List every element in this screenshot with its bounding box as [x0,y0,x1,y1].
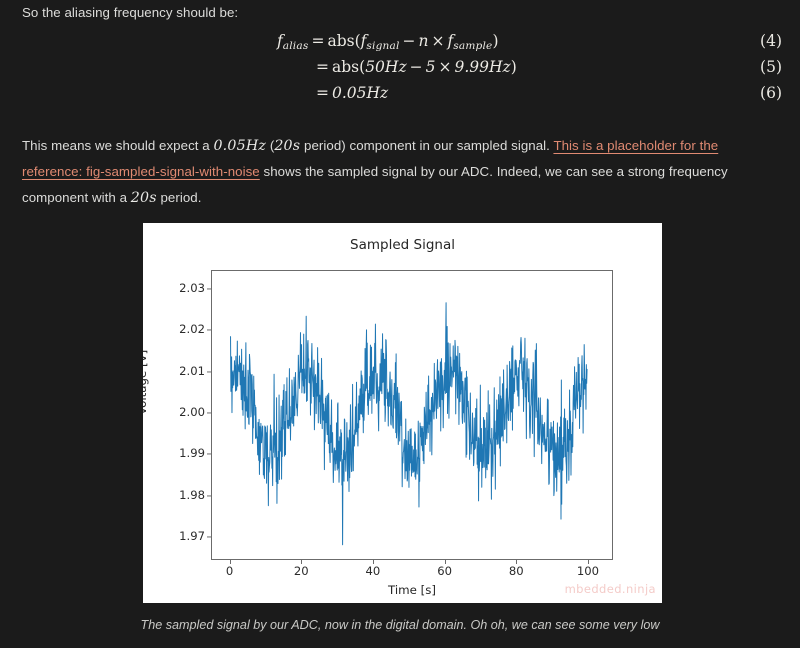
equation-number-4: (4) [760,34,782,50]
eq5-u2: Hz [489,58,511,76]
eq5-n: 5 [426,58,436,76]
means-seg5: period. [157,190,202,205]
eq5-v2: 9.99 [454,58,489,76]
y-tick-label: 2.01 [149,366,205,378]
eq6-u1: Hz [367,84,389,102]
x-tick-label: 100 [566,566,610,578]
means-seg1: This means we should expect a [22,138,213,153]
means-paragraph: This means we should expect a 0.05Hz (20… [22,133,782,211]
y-axis-label: Voltage [V] [143,350,149,415]
eq4-minus: − [400,32,419,50]
eq4-n: n [419,32,429,50]
eq5-relation: = [313,58,332,76]
equation-block: falias=abs(fsignal−n×fsample) (4) =abs(5… [0,34,800,112]
eq5-fn: abs [332,58,359,76]
equation-4-body: falias=abs(fsignal−n×fsample) [0,34,740,51]
eq5-v1: 50 [365,58,385,76]
figure-caption: The sampled signal by our ADC, now in th… [100,614,700,636]
equation-number-5: (5) [760,60,782,76]
signal-trace [212,271,612,559]
eq4-times: × [429,32,448,50]
x-tick-label: 40 [351,566,395,578]
y-tick-label: 2.02 [149,324,205,336]
y-tick-label: 2.00 [149,407,205,419]
chart-title: Sampled Signal [143,239,662,253]
eq4-arg1-sub: signal [366,40,399,52]
equation-row-5: =abs(50Hz−5×9.99Hz) (5) [0,60,800,86]
eq5-u1: Hz [385,58,407,76]
eq6-relation: = [313,84,332,102]
intro-sentence: So the aliasing frequency should be: [22,0,722,26]
eq6-v1: 0.05 [332,84,367,102]
eq4-arg2-sub: sample [453,40,492,52]
x-tick-label: 60 [423,566,467,578]
means-math-alias-freq: 0.05Hz [213,138,266,154]
plot-area [211,270,613,560]
x-tick-label: 80 [494,566,538,578]
eq4-lhs-sub: alias [283,40,309,52]
means-seg3: period) component in our sampled signal. [300,138,553,153]
y-tick-label: 1.99 [149,449,205,461]
x-axis-label: Time [s] [211,585,613,597]
equation-row-6: =0.05Hz (6) [0,86,800,112]
article-page: So the aliasing frequency should be: fal… [0,0,800,648]
eq5-times: × [435,58,454,76]
x-tick-label: 0 [208,566,252,578]
eq4-fn: abs [327,32,354,50]
equation-row-4: falias=abs(fsignal−n×fsample) (4) [0,34,800,60]
means-math-period-2: 20s [131,190,157,206]
eq5-minus: − [407,58,426,76]
equation-6-body: =0.05Hz [0,86,740,102]
equation-number-6: (6) [760,86,782,102]
eq4-relation: = [308,32,327,50]
equation-5-body: =abs(50Hz−5×9.99Hz) [0,60,740,76]
x-tick-label: 20 [279,566,323,578]
y-tick-label: 1.98 [149,490,205,502]
figure-sampled-signal: Sampled Signal Voltage [V] Time [s] 1.97… [143,223,662,603]
means-math-period-1: 20s [274,138,300,154]
y-tick-label: 2.03 [149,283,205,295]
y-tick-label: 1.97 [149,531,205,543]
